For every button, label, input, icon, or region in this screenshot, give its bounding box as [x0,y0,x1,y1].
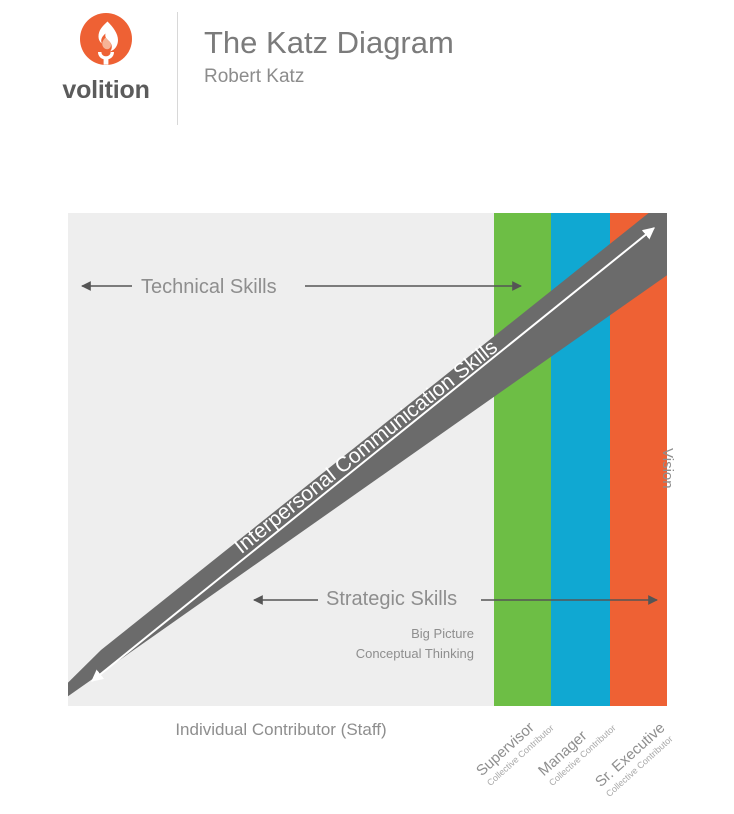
column-supervisor [494,213,551,706]
conceptual-thinking-note: Conceptual Thinking [300,644,474,664]
strategic-skills-label: Strategic Skills [326,588,457,611]
strategic-sub-notes: Big Picture Conceptual Thinking [300,624,474,664]
katz-diagram: Interpersonal Communication Skills Techn… [0,0,734,814]
technical-skills-label: Technical Skills [141,276,277,299]
big-picture-note: Big Picture [300,624,474,644]
vision-label: Vision [659,448,676,489]
diagram-canvas: Interpersonal Communication Skills [0,0,734,814]
individual-contributor-label: Individual Contributor (Staff) [68,720,494,740]
